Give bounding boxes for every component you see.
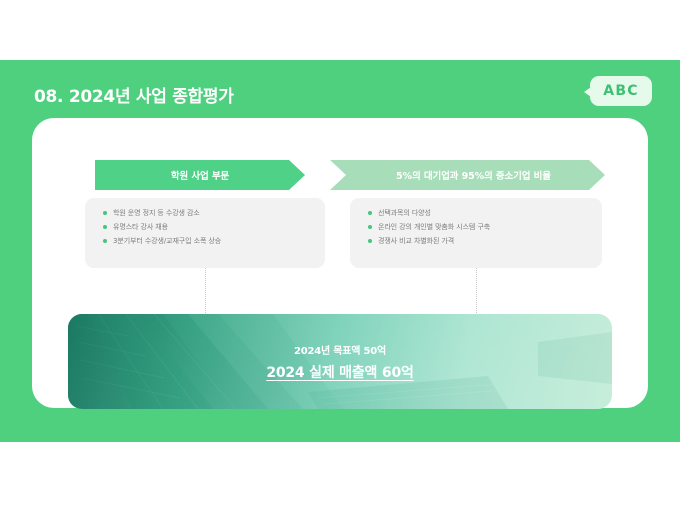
list-item: 선택과목의 다양성 — [368, 208, 602, 218]
list-item-label: 선택과목의 다양성 — [378, 208, 431, 218]
list-item-label: 유명스타 강사 채용 — [113, 222, 168, 232]
card-left-bullets: 학원 운영 정지 등 수강생 감소 유명스타 강사 채용 3분기부터 수강생/교… — [85, 198, 325, 268]
connector-line-left — [205, 268, 206, 313]
speech-bubble-tail-icon — [584, 87, 591, 97]
card-right-bullets: 선택과목의 다양성 온라인 강의 개인별 맞춤화 시스템 구축 경쟁사 비교 차… — [350, 198, 602, 268]
connector-line-right — [476, 268, 477, 313]
bullet-dot-icon — [103, 211, 107, 215]
logo-label: ABC — [603, 83, 638, 99]
revenue-caption-group: 2024년 목표액 50억 2024 실제 매출액 60억 — [68, 314, 612, 409]
page-title: 08. 2024년 사업 종합평가 — [34, 82, 234, 107]
bullet-dot-icon — [103, 225, 107, 229]
abc-logo-badge: ABC — [590, 76, 652, 106]
bullet-dot-icon — [368, 239, 372, 243]
list-item-label: 온라인 강의 개인별 맞춤화 시스템 구축 — [378, 222, 490, 232]
bullet-dot-icon — [368, 225, 372, 229]
list-item: 경쟁사 비교 차별화된 가격 — [368, 236, 602, 246]
bullet-dot-icon — [368, 211, 372, 215]
list-item-label: 학원 운영 정지 등 수강생 감소 — [113, 208, 200, 218]
banner-right-label: 5%의 대기업과 95%의 중소기업 비율 — [384, 168, 551, 182]
green-frame-right-edge — [648, 60, 680, 442]
list-item: 유명스타 강사 채용 — [103, 222, 325, 232]
bullet-dot-icon — [103, 239, 107, 243]
slide-canvas: 08. 2024년 사업 종합평가 ABC 학원 사업 부문 5%의 대기업과 … — [0, 0, 680, 510]
target-revenue-label: 2024년 목표액 50억 — [294, 342, 386, 357]
revenue-photo-banner: 2024년 목표액 50억 2024 실제 매출액 60억 — [68, 314, 612, 409]
list-item-label: 경쟁사 비교 차별화된 가격 — [378, 236, 454, 246]
banner-academy-business: 학원 사업 부문 — [95, 160, 305, 190]
list-item: 온라인 강의 개인별 맞춤화 시스템 구축 — [368, 222, 602, 232]
banner-left-label: 학원 사업 부문 — [171, 168, 229, 182]
list-item: 학원 운영 정지 등 수강생 감소 — [103, 208, 325, 218]
actual-revenue-label: 2024 실제 매출액 60억 — [266, 362, 413, 382]
banner-company-ratio: 5%의 대기업과 95%의 중소기업 비율 — [330, 160, 605, 190]
list-item-label: 3분기부터 수강생/교재구입 소폭 상승 — [113, 236, 221, 246]
list-item: 3분기부터 수강생/교재구입 소폭 상승 — [103, 236, 325, 246]
